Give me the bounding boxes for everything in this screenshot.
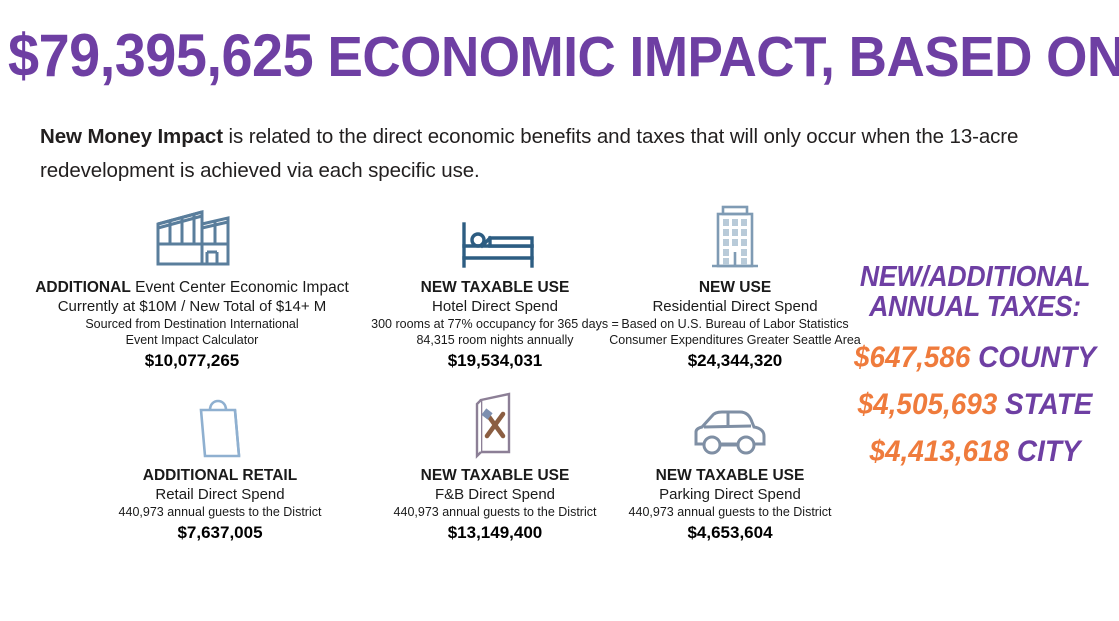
event-center-icon bbox=[22, 200, 362, 274]
page-headline: $79,395,625 ECONOMIC IMPACT, BASED ON DI… bbox=[8, 26, 1034, 88]
stat-note-1: 440,973 annual guests to the District bbox=[570, 504, 890, 520]
intro-paragraph: New Money Impact is related to the direc… bbox=[40, 120, 1060, 188]
taxes-heading-line-1: NEW/ADDITIONAL bbox=[847, 262, 1103, 292]
stat-value: $4,653,604 bbox=[570, 521, 890, 545]
taxes-heading: NEW/ADDITIONAL ANNUAL TAXES: bbox=[847, 262, 1103, 322]
tax-label-city: CITY bbox=[1009, 435, 1080, 468]
tax-row-city: $4,413,618 CITY bbox=[846, 428, 1105, 475]
tax-label-state: STATE bbox=[997, 388, 1092, 421]
tax-row-state: $4,505,693 STATE bbox=[846, 381, 1105, 428]
headline-amount: $79,395,625 bbox=[8, 22, 313, 89]
tax-label-county: COUNTY bbox=[970, 341, 1096, 374]
tax-amount-county: $647,586 bbox=[854, 341, 970, 374]
stat-caption: ADDITIONAL bbox=[35, 279, 131, 296]
taxes-heading-line-2: ANNUAL TAXES: bbox=[847, 292, 1103, 322]
stat-caption: NEW TAXABLE USE bbox=[656, 467, 805, 484]
stat-caption: NEW TAXABLE USE bbox=[421, 467, 570, 484]
tax-amount-city: $4,413,618 bbox=[870, 435, 1010, 468]
stat-block-event-center: ADDITIONAL Event Center Economic Impact … bbox=[22, 200, 362, 373]
intro-lead: New Money Impact bbox=[40, 125, 223, 148]
stat-note-2: Event Impact Calculator bbox=[22, 332, 362, 348]
headline-text: ECONOMIC IMPACT, BASED ON DIRECT SPEND bbox=[313, 25, 1119, 89]
stat-note-1: Sourced from Destination International bbox=[22, 316, 362, 332]
tax-amount-state: $4,505,693 bbox=[858, 388, 998, 421]
stat-caption: ADDITIONAL RETAIL bbox=[143, 467, 297, 484]
stat-title: ADDITIONAL Event Center Economic Impact bbox=[22, 278, 362, 297]
stat-caption: NEW TAXABLE USE bbox=[421, 279, 570, 296]
stat-value: $10,077,265 bbox=[22, 349, 362, 373]
tax-row-county: $647,586 COUNTY bbox=[846, 334, 1105, 381]
stat-caption: NEW USE bbox=[699, 279, 771, 296]
stat-subtitle: Parking Direct Spend bbox=[570, 485, 890, 504]
stat-title-text: Event Center Economic Impact bbox=[131, 279, 349, 296]
stat-subtitle: Currently at $10M / New Total of $14+ M bbox=[22, 297, 362, 316]
annual-taxes-panel: NEW/ADDITIONAL ANNUAL TAXES: $647,586 CO… bbox=[836, 262, 1114, 475]
